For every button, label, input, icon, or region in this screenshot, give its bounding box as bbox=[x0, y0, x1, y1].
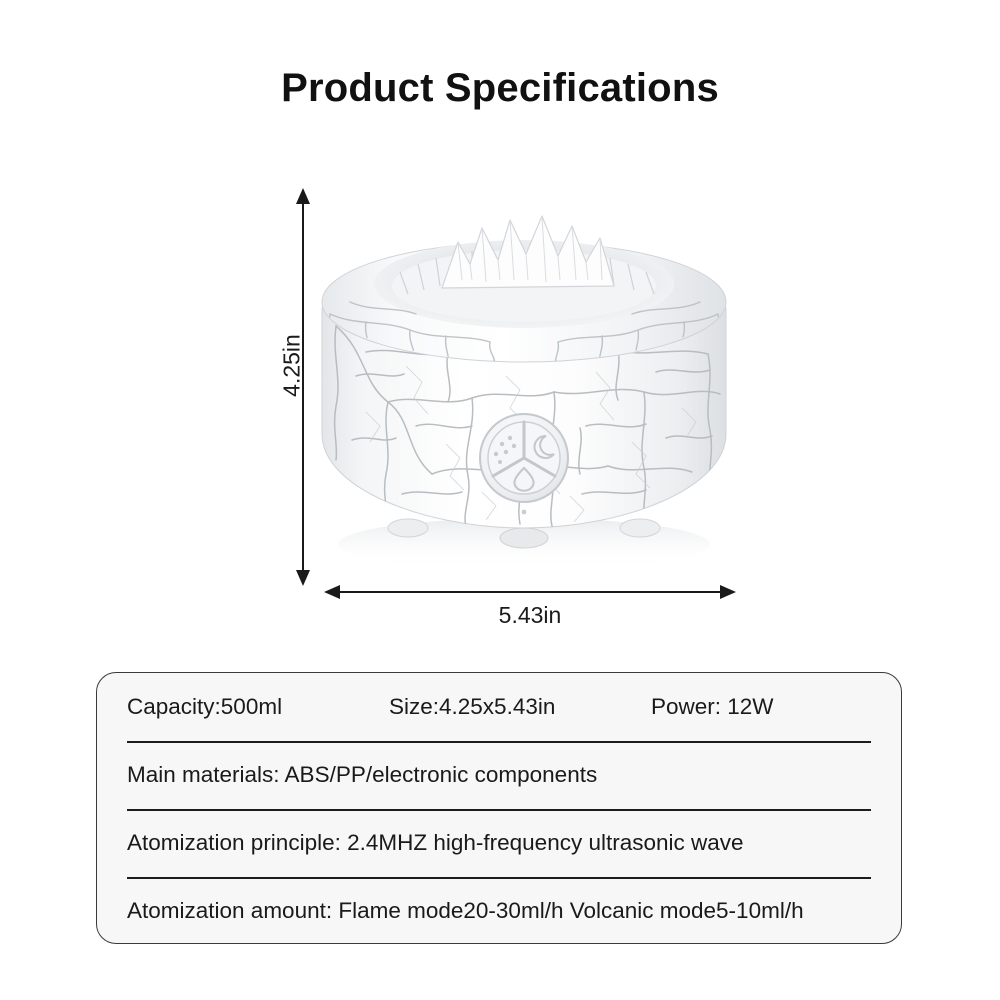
spec-row-materials: Main materials: ABS/PP/electronic compon… bbox=[97, 741, 901, 809]
spec-atomization-principle: Atomization principle: 2.4MHZ high-frequ… bbox=[127, 830, 744, 856]
diffuser-lid bbox=[322, 216, 726, 362]
indicator-led bbox=[522, 510, 527, 515]
specifications-card: Capacity:500ml Size:4.25x5.43in Power: 1… bbox=[96, 672, 902, 944]
spec-row-principle: Atomization principle: 2.4MHZ high-frequ… bbox=[97, 809, 901, 877]
spec-atomization-amount: Atomization amount: Flame mode20-30ml/h … bbox=[127, 898, 804, 924]
dimension-label-width: 5.43in bbox=[430, 602, 630, 629]
spec-main-materials: Main materials: ABS/PP/electronic compon… bbox=[127, 762, 597, 788]
spec-size: Size:4.25x5.43in bbox=[389, 694, 651, 720]
spec-power: Power: 12W bbox=[651, 694, 851, 720]
spec-row-basic: Capacity:500ml Size:4.25x5.43in Power: 1… bbox=[97, 673, 901, 741]
spec-row-amount: Atomization amount: Flame mode20-30ml/h … bbox=[97, 877, 901, 945]
product-image-humidifier bbox=[296, 176, 752, 596]
spec-capacity: Capacity:500ml bbox=[127, 694, 389, 720]
page-title: Product Specifications bbox=[0, 66, 1000, 111]
